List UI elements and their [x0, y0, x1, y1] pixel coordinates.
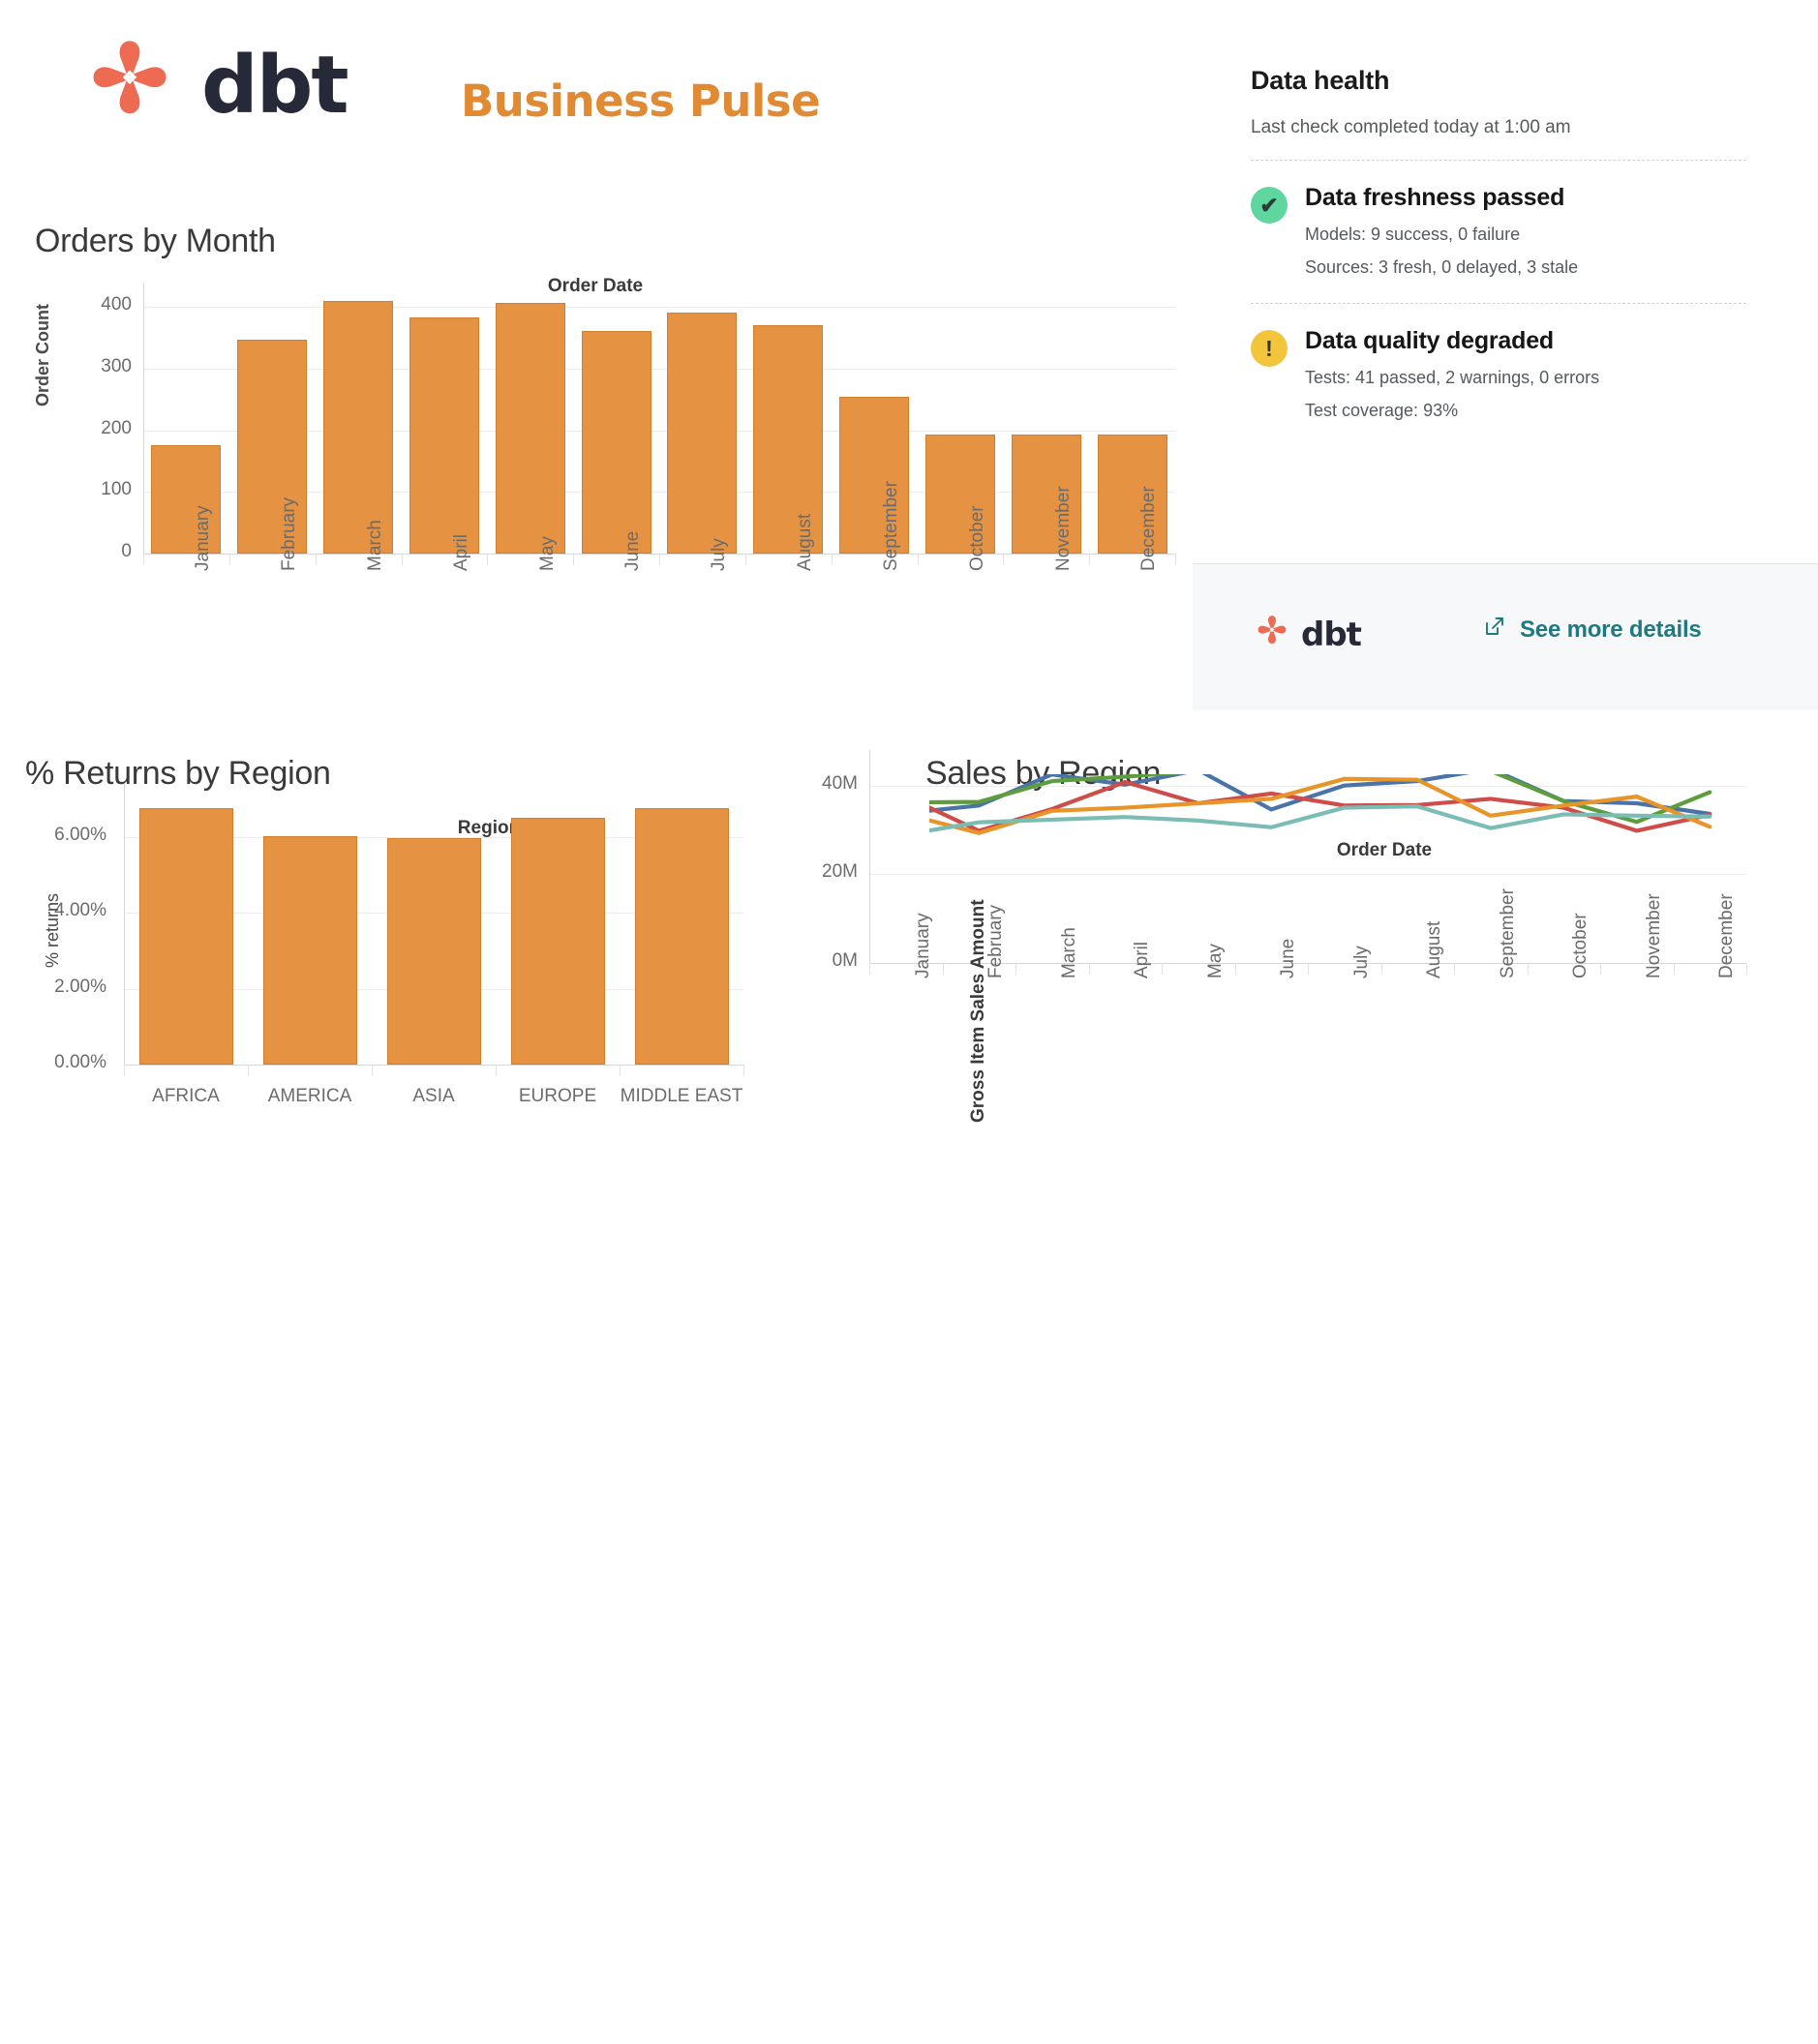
x-axis-tick [496, 1065, 497, 1076]
x-axis-tick [124, 1065, 125, 1076]
x-axis-tick [1381, 963, 1382, 975]
x-axis-tick-label: July [1351, 946, 1373, 978]
y-axis-tick-label: 40M [776, 773, 858, 795]
see-more-details-label: See more details [1520, 616, 1702, 644]
x-axis-tick-label: October [967, 505, 988, 571]
x-axis-tick-label: March [365, 520, 386, 571]
x-axis-tick [1003, 554, 1004, 565]
x-axis-tick [1454, 963, 1455, 975]
y-axis-tick-label: 6.00% [17, 825, 106, 846]
bar [582, 331, 651, 554]
see-more-details-link[interactable]: See more details [1483, 615, 1702, 645]
orders-panel-title: Orders by Month [35, 223, 276, 260]
health-item-title: Data quality degraded [1305, 327, 1599, 355]
x-axis-tick-label: August [795, 514, 816, 571]
x-axis-tick [1015, 963, 1016, 975]
bar [667, 313, 737, 554]
x-axis-tick-label: December [1716, 893, 1738, 978]
bar [409, 317, 479, 554]
x-axis-tick-label: MIDDLE EAST [620, 1086, 743, 1107]
y-axis-tick-label: 0.00% [17, 1052, 106, 1073]
x-axis-tick [1162, 963, 1163, 975]
x-axis-tick-label: August [1424, 921, 1445, 978]
x-axis-tick-label: April [451, 534, 472, 571]
bar [263, 836, 357, 1065]
x-axis-tick-label: May [1205, 944, 1227, 978]
x-axis-tick [573, 554, 574, 565]
x-axis-tick [1235, 963, 1236, 975]
bar [496, 303, 565, 554]
x-axis-tick-label: June [622, 531, 644, 571]
divider [1251, 303, 1746, 304]
health-item-title: Data freshness passed [1305, 184, 1578, 212]
x-axis-tick [1175, 554, 1176, 565]
bar [387, 838, 481, 1065]
x-axis-tick [745, 554, 746, 565]
x-axis-tick-label: February [279, 497, 300, 571]
divider [1251, 160, 1746, 161]
x-axis-tick [1089, 963, 1090, 975]
x-axis-tick-label: May [537, 536, 559, 571]
x-axis-tick-label: July [709, 538, 730, 571]
health-item-line: Test coverage: 93% [1305, 401, 1599, 421]
health-item-line: Models: 9 success, 0 failure [1305, 225, 1578, 245]
details-brand: dbt [1253, 613, 1361, 656]
x-axis-tick [832, 554, 833, 565]
x-axis-tick-label: April [1132, 942, 1153, 978]
x-axis-tick [620, 1065, 621, 1076]
dbt-logo-icon [1253, 613, 1291, 656]
y-axis-tick-label: 300 [43, 356, 132, 377]
bar [511, 818, 605, 1065]
x-axis-tick-label: September [881, 481, 902, 571]
x-axis-tick [743, 1065, 744, 1076]
health-item-quality: ! Data quality degraded Tests: 41 passed… [1251, 327, 1818, 421]
brand: dbt [79, 33, 348, 138]
health-item-line: Tests: 41 passed, 2 warnings, 0 errors [1305, 368, 1599, 388]
dbt-logo-icon [79, 33, 180, 138]
y-axis-tick-label: 400 [43, 294, 132, 316]
gridline [869, 786, 1746, 787]
bar [139, 808, 233, 1065]
x-axis-tick-label: March [1059, 927, 1080, 978]
x-axis-tick-label: November [1644, 893, 1665, 978]
x-axis-tick-label: EUROPE [496, 1086, 620, 1107]
x-axis-tick-label: October [1570, 913, 1591, 978]
warning-glyph: ! [1265, 338, 1273, 360]
x-axis-tick-label: January [193, 505, 214, 571]
bar [323, 301, 393, 554]
bar [635, 808, 729, 1065]
returns-panel-title: % Returns by Region [25, 755, 331, 793]
x-axis-tick-label: AFRICA [124, 1086, 248, 1107]
check-glyph: ✔ [1259, 195, 1278, 217]
orders-by-month-panel: Orders by Month Order Date 0100200300400… [0, 223, 1191, 726]
x-axis-line [124, 1065, 743, 1066]
orders-chart-title: Order Date [0, 276, 1191, 297]
orders-y-axis-label: Order Count [33, 304, 53, 406]
warning-circle-icon: ! [1251, 330, 1288, 367]
x-axis-tick [659, 554, 660, 565]
x-axis-tick [143, 554, 144, 565]
y-axis-line [869, 750, 870, 963]
dbt-wordmark: dbt [1301, 616, 1361, 654]
y-axis-tick-label: 2.00% [17, 977, 106, 998]
x-axis-tick [918, 554, 919, 565]
x-axis-tick [229, 554, 230, 565]
y-axis-line [124, 784, 125, 1065]
x-axis-tick [402, 554, 403, 565]
y-axis-line [143, 283, 144, 554]
gridline [869, 874, 1746, 875]
y-axis-tick-label: 200 [43, 418, 132, 439]
x-axis-tick [372, 1065, 373, 1076]
health-item-freshness: ✔ Data freshness passed Models: 9 succes… [1251, 184, 1818, 278]
y-axis-tick-label: 100 [43, 479, 132, 500]
see-more-details-card: dbt See more details [1193, 563, 1818, 710]
x-axis-tick [1674, 963, 1675, 975]
x-axis-tick-label: January [913, 913, 934, 978]
y-axis-tick-label: 0 [43, 541, 132, 562]
data-health-panel: Data health Last check completed today a… [1251, 66, 1818, 569]
x-axis-tick-label: September [1498, 888, 1519, 978]
x-axis-tick-label: June [1278, 939, 1299, 978]
y-axis-tick-label: 0M [776, 950, 858, 972]
x-axis-tick [1089, 554, 1090, 565]
x-axis-tick [1600, 963, 1601, 975]
sales-chart-title: Order Date [1045, 840, 1723, 861]
x-axis-tick [1528, 963, 1529, 975]
x-axis-tick-label: ASIA [372, 1086, 496, 1107]
x-axis-tick [248, 1065, 249, 1076]
data-health-heading: Data health [1251, 66, 1818, 96]
x-axis-tick [1746, 963, 1747, 975]
page-title: Business Pulse [461, 75, 820, 127]
sales-panel-title: Sales by Region [925, 755, 1161, 793]
x-axis-tick-label: AMERICA [248, 1086, 372, 1107]
x-axis-tick-label: December [1138, 486, 1160, 571]
sales-y-axis-label: Gross Item Sales Amount [968, 899, 989, 1123]
check-circle-icon: ✔ [1251, 187, 1288, 224]
x-axis-tick-label: November [1053, 486, 1075, 571]
gridline [143, 307, 1175, 308]
line-series [929, 806, 1710, 834]
returns-by-region-panel: % Returns by Region Region 0.00%2.00%4.0… [0, 774, 929, 1270]
x-axis-tick [487, 554, 488, 565]
external-link-icon [1483, 615, 1506, 645]
data-health-subtitle: Last check completed today at 1:00 am [1251, 117, 1818, 138]
x-axis-tick [316, 554, 317, 565]
x-axis-tick [1308, 963, 1309, 975]
x-axis-tick [869, 963, 870, 975]
returns-y-axis-label: % returns [43, 893, 63, 968]
y-axis-tick-label: 20M [776, 861, 858, 883]
health-item-line: Sources: 3 fresh, 0 delayed, 3 stale [1305, 257, 1578, 278]
dbt-wordmark: dbt [201, 40, 348, 132]
x-axis-tick [943, 963, 944, 975]
sales-by-region-panel: Sales by Region Order Date 0M20M40MJanua… [929, 774, 1818, 1270]
